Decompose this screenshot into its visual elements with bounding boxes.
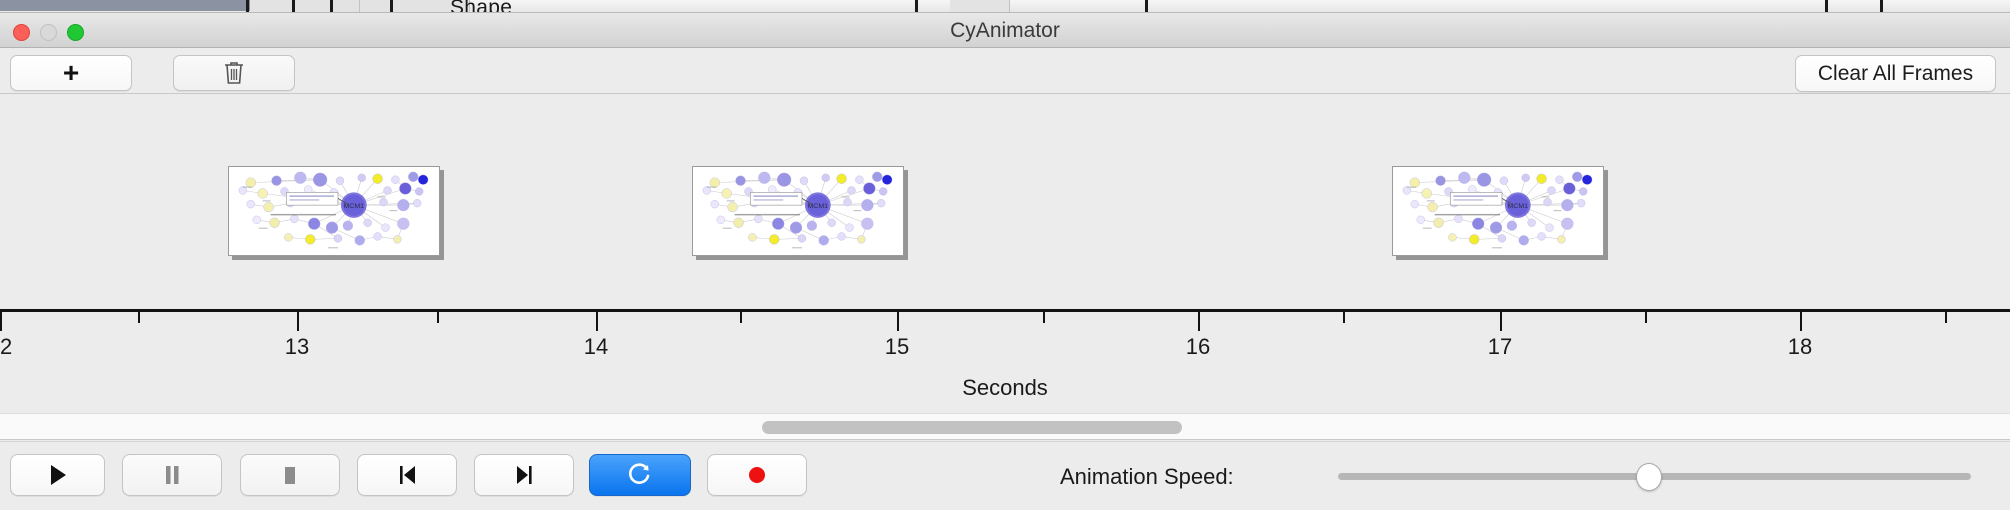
axis-tick-major bbox=[297, 312, 299, 331]
delete-frame-button[interactable] bbox=[173, 55, 295, 91]
timeline-axis bbox=[0, 309, 2010, 312]
record-button[interactable] bbox=[707, 454, 807, 496]
animation-speed-label: Animation Speed: bbox=[1060, 464, 1234, 490]
background-tab bbox=[950, 0, 1010, 13]
timeline-panel[interactable]: MCM1MCM1MCM1 12131415161718 Seconds bbox=[0, 94, 2010, 413]
axis-tick-label: 18 bbox=[1788, 334, 1812, 360]
record-icon bbox=[746, 463, 768, 487]
axis-tick-label: 12 bbox=[0, 334, 12, 360]
axis-tick-label: 13 bbox=[285, 334, 309, 360]
loop-icon bbox=[628, 462, 652, 488]
plus-icon: + bbox=[63, 59, 79, 87]
axis-title: Seconds bbox=[0, 375, 2010, 401]
axis-tick-major bbox=[0, 312, 2, 331]
axis-tick-label: 15 bbox=[885, 334, 909, 360]
background-tab bbox=[250, 0, 360, 13]
axis-tick-major bbox=[1800, 312, 1802, 331]
trash-icon bbox=[223, 60, 245, 86]
axis-tick-minor bbox=[1945, 312, 1947, 323]
frames-area[interactable]: MCM1MCM1MCM1 bbox=[0, 94, 2010, 309]
window-title: CyAnimator bbox=[0, 13, 2010, 48]
axis-tick-label: 14 bbox=[584, 334, 608, 360]
network-thumbnail: MCM1 bbox=[1393, 167, 1603, 255]
axis-tick-minor bbox=[1043, 312, 1045, 323]
axis-tick-major bbox=[897, 312, 899, 331]
background-window-strip: Shape bbox=[0, 0, 2010, 13]
skip-forward-icon bbox=[513, 463, 535, 487]
play-button[interactable] bbox=[10, 454, 105, 496]
svg-text:MCM1: MCM1 bbox=[1508, 203, 1529, 210]
timeline-scrollbar[interactable] bbox=[0, 413, 2010, 440]
background-titlebar-segment bbox=[0, 0, 250, 11]
skip-forward-button[interactable] bbox=[474, 454, 574, 496]
timeline-frame[interactable]: MCM1 bbox=[692, 166, 904, 256]
loop-button[interactable] bbox=[589, 454, 691, 496]
background-divider bbox=[915, 0, 918, 13]
background-divider bbox=[330, 0, 333, 13]
svg-text:MCM1: MCM1 bbox=[344, 203, 365, 210]
clear-all-frames-label: Clear All Frames bbox=[1818, 62, 1973, 86]
pause-icon bbox=[162, 463, 182, 487]
background-divider bbox=[1880, 0, 1883, 13]
title-bar: CyAnimator bbox=[0, 13, 2010, 48]
background-shape-label: Shape bbox=[450, 0, 512, 13]
background-divider bbox=[292, 0, 295, 13]
stop-icon bbox=[280, 463, 300, 487]
axis-tick-major bbox=[1198, 312, 1200, 331]
axis-tick-label: 16 bbox=[1186, 334, 1210, 360]
axis-tick-minor bbox=[437, 312, 439, 323]
axis-tick-label: 17 bbox=[1488, 334, 1512, 360]
add-frame-button[interactable]: + bbox=[10, 55, 132, 91]
svg-text:MCM1: MCM1 bbox=[808, 203, 829, 210]
clear-all-frames-button[interactable]: Clear All Frames bbox=[1795, 55, 1996, 92]
timeline-frame[interactable]: MCM1 bbox=[1392, 166, 1604, 256]
axis-tick-minor bbox=[138, 312, 140, 323]
background-divider bbox=[1825, 0, 1828, 13]
background-divider bbox=[1145, 0, 1148, 13]
animation-speed-slider-thumb[interactable] bbox=[1636, 463, 1662, 491]
playback-bar: Animation Speed: bbox=[0, 441, 2010, 510]
frame-toolbar: + Clear All Frames bbox=[0, 48, 2010, 94]
network-thumbnail: MCM1 bbox=[693, 167, 903, 255]
skip-back-icon bbox=[396, 463, 418, 487]
cyanimator-window: Shape CyAnimator + Clear All Fram bbox=[0, 0, 2010, 510]
background-divider bbox=[390, 0, 393, 13]
pause-button[interactable] bbox=[122, 454, 222, 496]
axis-tick-minor bbox=[1343, 312, 1345, 323]
background-divider bbox=[246, 0, 249, 13]
axis-tick-minor bbox=[740, 312, 742, 323]
stop-button[interactable] bbox=[240, 454, 340, 496]
axis-tick-major bbox=[596, 312, 598, 331]
axis-tick-minor bbox=[1645, 312, 1647, 323]
skip-back-button[interactable] bbox=[357, 454, 457, 496]
network-thumbnail: MCM1 bbox=[229, 167, 439, 255]
timeline-scrollbar-thumb[interactable] bbox=[762, 421, 1182, 434]
axis-tick-major bbox=[1500, 312, 1502, 331]
timeline-frame[interactable]: MCM1 bbox=[228, 166, 440, 256]
play-icon bbox=[47, 463, 69, 487]
